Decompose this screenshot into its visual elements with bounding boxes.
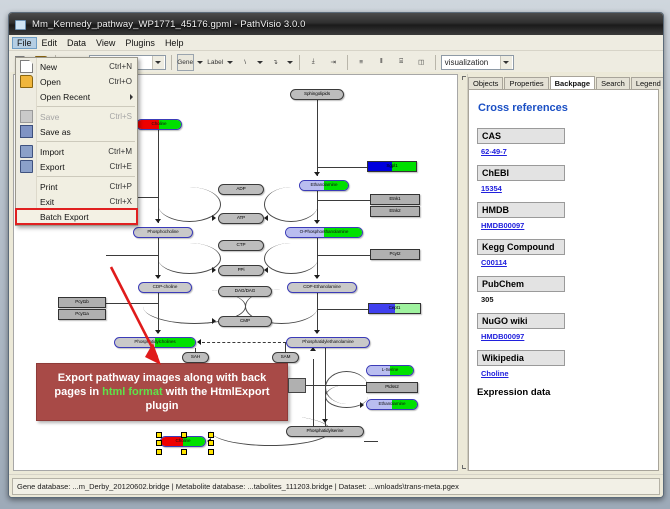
edge-cept1-connector (317, 309, 368, 310)
node-label: Cept1 (389, 306, 401, 311)
menu-item-open-recent[interactable]: Open Recent (16, 89, 137, 104)
menu-item-label: Save as (36, 127, 132, 137)
pathway-node-pcyt2[interactable]: Pcyt2 (370, 249, 420, 260)
tab-legend[interactable]: Legend (631, 77, 664, 89)
node-label: PPi (238, 268, 245, 273)
pathway-node-dagdag[interactable]: DAG/DAG (218, 286, 272, 297)
xref-link[interactable]: HMDB00097 (481, 221, 658, 230)
pathvisio-app-icon (14, 18, 26, 30)
cross-references-title: Cross references (478, 102, 658, 114)
xref-link[interactable]: Choline (481, 369, 658, 378)
pathway-node-ptdethanolamine[interactable]: Phosphatidylethanolamine (286, 337, 370, 348)
selection-handle[interactable] (208, 432, 214, 438)
menu-item-shortcut: Ctrl+N (109, 62, 137, 71)
chevron-down-icon[interactable] (152, 56, 164, 69)
menu-item-batch-export[interactable]: Batch Export (16, 209, 137, 224)
arrow-down-icon (314, 275, 320, 279)
status-bar: Gene database: ...m_Derby_20120602.bridg… (9, 474, 663, 497)
xref-database-label: ChEBI (477, 165, 565, 181)
menu-file[interactable]: File (12, 37, 37, 49)
selection-handle[interactable] (156, 440, 162, 446)
pathway-node-choline[interactable]: Choline (136, 119, 182, 130)
menu-item-no-icon (16, 194, 36, 209)
align-top-tool-icon[interactable]: ⤓ (305, 54, 322, 71)
selection-handle[interactable] (208, 449, 214, 455)
menu-item-label: Export (36, 162, 110, 172)
edge-ps-to-pe (313, 359, 314, 429)
arrow-right-icon (212, 318, 216, 324)
backpage-content: Cross references CAS62-49-7ChEBI15354HMD… (468, 89, 659, 471)
pathvisio-window: Mm_Kennedy_pathway_WP1771_45176.gpml - P… (8, 12, 664, 498)
pathway-node-atp[interactable]: ATP (218, 213, 264, 224)
pathway-node-etnk2[interactable]: Etnk2 (370, 206, 420, 217)
group-tool-icon[interactable]: ◫ (413, 54, 430, 71)
node-label: SAM (281, 355, 291, 360)
new-file-icon (16, 59, 36, 74)
node-label: Choline (152, 122, 167, 127)
pathway-node-cept1[interactable]: Cept1 (368, 303, 421, 314)
node-label: Ptdss2 (385, 385, 398, 390)
xref-database-label: CAS (477, 128, 565, 144)
pathway-node-sphingolipids[interactable]: Sphingolipids (290, 89, 344, 100)
arrow-down-icon (314, 220, 320, 224)
pointer-arrow-icon (109, 265, 179, 373)
menu-bar: File Edit Data View Plugins Help (9, 35, 663, 51)
node-label: Etnk2 (389, 209, 400, 214)
xref-database-label: PubChem (477, 276, 565, 292)
toolbar-separator (435, 55, 436, 70)
node-label: Ethanolamine (311, 183, 338, 188)
xref-link[interactable]: 62-49-7 (481, 147, 658, 156)
toolbar-separator (299, 55, 300, 70)
menu-plugins[interactable]: Plugins (120, 37, 160, 49)
menu-item-label: Save (36, 112, 110, 122)
side-panel-tabs: Objects Properties Backpage Search Legen… (468, 74, 659, 89)
xref-link[interactable]: HMDB00097 (481, 332, 658, 341)
pathway-node-ptdserine[interactable]: Phosphatidylserine (286, 426, 364, 437)
open-folder-icon (16, 74, 36, 89)
menu-item-label: Open Recent (36, 92, 137, 102)
xref-link[interactable]: 15354 (481, 184, 658, 193)
menu-item-shortcut: Ctrl+P (110, 182, 137, 191)
menu-item-label: Open (36, 77, 109, 87)
node-label: Etnk1 (389, 197, 400, 202)
pathway-node-sgpl1[interactable]: Sgpl1 (367, 161, 417, 172)
menu-item-label: Exit (36, 197, 110, 207)
menu-item-no-icon (16, 89, 36, 104)
align-left-tool-icon[interactable]: ⇥ (325, 54, 342, 71)
arrow-down-icon (314, 172, 320, 176)
selection-handle[interactable] (181, 449, 187, 455)
menu-view[interactable]: View (91, 37, 120, 49)
menu-help[interactable]: Help (160, 37, 189, 49)
tab-objects[interactable]: Objects (468, 77, 503, 89)
menu-item-save: SaveCtrl+S (16, 109, 137, 124)
node-label: L-Serine (382, 368, 399, 373)
arrow-left-icon (264, 215, 268, 221)
node-label: Phosphatidylethanolamine (302, 340, 354, 345)
xref-database-label: NuGO wiki (477, 313, 565, 329)
panel-collapse-handle[interactable] (460, 74, 468, 471)
node-label: Pcyt1b (75, 300, 88, 305)
menu-item-shortcut: Ctrl+M (108, 147, 137, 156)
node-label: ADP (236, 187, 245, 192)
node-label: O-Phosphoethanolamine (300, 230, 349, 235)
pathway-node-sah[interactable]: SAH (182, 352, 209, 363)
node-label: Sphingolipids (304, 92, 330, 97)
expression-data-title: Expression data (477, 387, 658, 398)
callout-text-highlight: html format (102, 386, 163, 398)
xref-link[interactable]: C00114 (481, 258, 658, 267)
node-label: Phosphocholine (147, 230, 178, 235)
pathway-node-ethanolamine1[interactable]: Ethanolamine (299, 180, 349, 191)
gene-product-tool-icon[interactable]: Gene (177, 54, 194, 71)
xref-database-label: Kegg Compound (477, 239, 565, 255)
label-dropdown-icon[interactable] (227, 55, 234, 70)
side-panel: Objects Properties Backpage Search Legen… (460, 74, 659, 471)
node-label: Pcyt2 (390, 252, 401, 257)
line-dropdown-icon[interactable] (257, 55, 264, 70)
edge-to-bottom-choline (364, 441, 378, 442)
arrow-right-icon (212, 215, 216, 221)
interaction-tool-icon[interactable]: ↴ (267, 54, 284, 71)
xref-database-label: Wikipedia (477, 350, 565, 366)
edge-pe-to-pc-methylation (202, 342, 286, 343)
xref-value: 305 (481, 295, 658, 304)
label-tool-icon[interactable]: Label (207, 54, 224, 71)
menu-item-export[interactable]: ExportCtrl+E (16, 159, 137, 174)
file-menu-popup[interactable]: NewCtrl+NOpenCtrl+OOpen RecentSaveCtrl+S… (15, 57, 138, 226)
selection-handles[interactable] (156, 432, 210, 451)
pathway-node-adp[interactable]: ADP (218, 184, 264, 195)
window-title: Mm_Kennedy_pathway_WP1771_45176.gpml - P… (32, 19, 306, 30)
pathway-node-ethanolamine2[interactable]: Ethanolamine (366, 399, 418, 410)
menu-item-shortcut: Ctrl+O (109, 77, 137, 86)
selection-handle[interactable] (181, 432, 187, 438)
node-label: SAH (191, 355, 200, 360)
export-icon (16, 159, 36, 174)
import-icon (16, 144, 36, 159)
visualization-value: visualization (445, 58, 489, 67)
stack-tool-icon[interactable]: ⌸ (393, 54, 410, 71)
distribute-vertical-tool-icon[interactable]: ≡ (353, 54, 370, 71)
menu-item-import[interactable]: ImportCtrl+M (16, 144, 137, 159)
selection-handle[interactable] (208, 440, 214, 446)
menu-item-exit[interactable]: ExitCtrl+X (16, 194, 137, 209)
visualization-combobox[interactable]: visualization (441, 55, 514, 70)
pathway-node-cdpethanolamine[interactable]: CDP-Ethanolamine (287, 282, 357, 293)
node-label: Phosphatidylserine (306, 429, 343, 434)
arrow-right-icon (212, 267, 216, 273)
distribute-horizontal-tool-icon[interactable]: ⦀ (373, 54, 390, 71)
xref-database-label: HMDB (477, 202, 565, 218)
chevron-down-icon[interactable] (500, 56, 512, 69)
menu-item-label: New (36, 62, 109, 72)
menu-item-no-icon (16, 179, 36, 194)
node-label: CDP-Ethanolamine (303, 285, 341, 290)
curve-ophosphoeth-ctp-ppi (264, 243, 318, 274)
pathway-node-sam[interactable]: SAM (272, 352, 299, 363)
anchor-block (288, 378, 306, 393)
menu-item-shortcut: Ctrl+X (110, 197, 137, 206)
status-text: Gene database: ...m_Derby_20120602.bridg… (12, 478, 660, 495)
node-label: Sgpl1 (386, 164, 397, 169)
menu-item-new[interactable]: NewCtrl+N (16, 59, 137, 74)
menu-separator (37, 141, 135, 142)
edge-sphingolipids-to-ethanolamine (317, 100, 318, 176)
node-label: Pcyt1a (75, 312, 88, 317)
tab-search[interactable]: Search (596, 77, 630, 89)
menu-item-open[interactable]: OpenCtrl+O (16, 74, 137, 89)
node-label: ATP (237, 216, 245, 221)
node-label: Ethanolamine (379, 402, 406, 407)
menu-item-label: Batch Export (36, 212, 132, 222)
menu-item-no-icon (16, 209, 36, 224)
screen: Mm_Kennedy_pathway_WP1771_45176.gpml - P… (0, 0, 670, 509)
title-bar: Mm_Kennedy_pathway_WP1771_45176.gpml - P… (9, 13, 663, 35)
menu-item-label: Print (36, 182, 110, 192)
pathway-node-ppi[interactable]: PPi (218, 265, 264, 276)
pathway-node-ctp[interactable]: CTP (218, 240, 264, 251)
menu-edit[interactable]: Edit (37, 37, 63, 49)
toolbar-separator (171, 55, 172, 70)
node-label: CMP (240, 319, 250, 324)
selection-handle[interactable] (156, 449, 162, 455)
node-label: DAG/DAG (235, 289, 256, 294)
save-disk-icon (16, 109, 36, 124)
selection-handle[interactable] (156, 432, 162, 438)
tab-backpage[interactable]: Backpage (550, 76, 595, 89)
menu-item-print[interactable]: PrintCtrl+P (16, 179, 137, 194)
menu-separator (37, 176, 135, 177)
edge-catalysis-pcyt1 (106, 255, 158, 256)
pathway-node-lserine[interactable]: L-Serine (366, 365, 414, 376)
menu-item-shortcut: Ctrl+S (110, 112, 137, 121)
edge-sgpl1-connector (317, 167, 367, 168)
save-as-icon (16, 124, 36, 139)
submenu-arrow-icon (130, 94, 133, 100)
pathway-node-ptdss2[interactable]: Ptdss2 (366, 382, 418, 393)
edge-etnk-connector (317, 200, 370, 201)
callout-text-part2: with the HtmlExport plugin (146, 386, 270, 412)
curve-ethanolamine-adp-atp (264, 187, 318, 222)
pathway-node-cmp[interactable]: CMP (218, 316, 272, 327)
pathway-node-ophosphoeth[interactable]: O-Phosphoethanolamine (285, 227, 363, 238)
menu-item-shortcut: Ctrl+E (110, 162, 137, 171)
edge-cdpethanolamine-to-ptdethanolamine (317, 293, 318, 333)
menu-item-label: Import (36, 147, 108, 157)
pathway-node-pcyt1b[interactable]: Pcyt1b (58, 297, 106, 308)
arrow-down-icon (314, 330, 320, 334)
pathway-node-phosphocholine[interactable]: Phosphocholine (133, 227, 193, 238)
toolbar-separator (347, 55, 348, 70)
menu-separator (37, 106, 135, 107)
interaction-dropdown-icon[interactable] (287, 55, 294, 70)
arrow-left-icon (264, 267, 268, 273)
gene-product-dropdown-icon[interactable] (197, 55, 204, 70)
edge-pcyt2-connector (317, 255, 370, 256)
arrow-down-icon (155, 219, 161, 223)
menu-item-save-as[interactable]: Save as (16, 124, 137, 139)
tab-properties[interactable]: Properties (504, 77, 548, 89)
line-tool-icon[interactable]: \ (237, 54, 254, 71)
menu-data[interactable]: Data (62, 37, 91, 49)
pathway-node-etnk1[interactable]: Etnk1 (370, 194, 420, 205)
arrow-right-icon (360, 402, 364, 408)
node-label: CTP (237, 243, 246, 248)
arrow-left-icon (197, 339, 201, 345)
pathway-node-pcyt1a[interactable]: Pcyt1a (58, 309, 106, 320)
